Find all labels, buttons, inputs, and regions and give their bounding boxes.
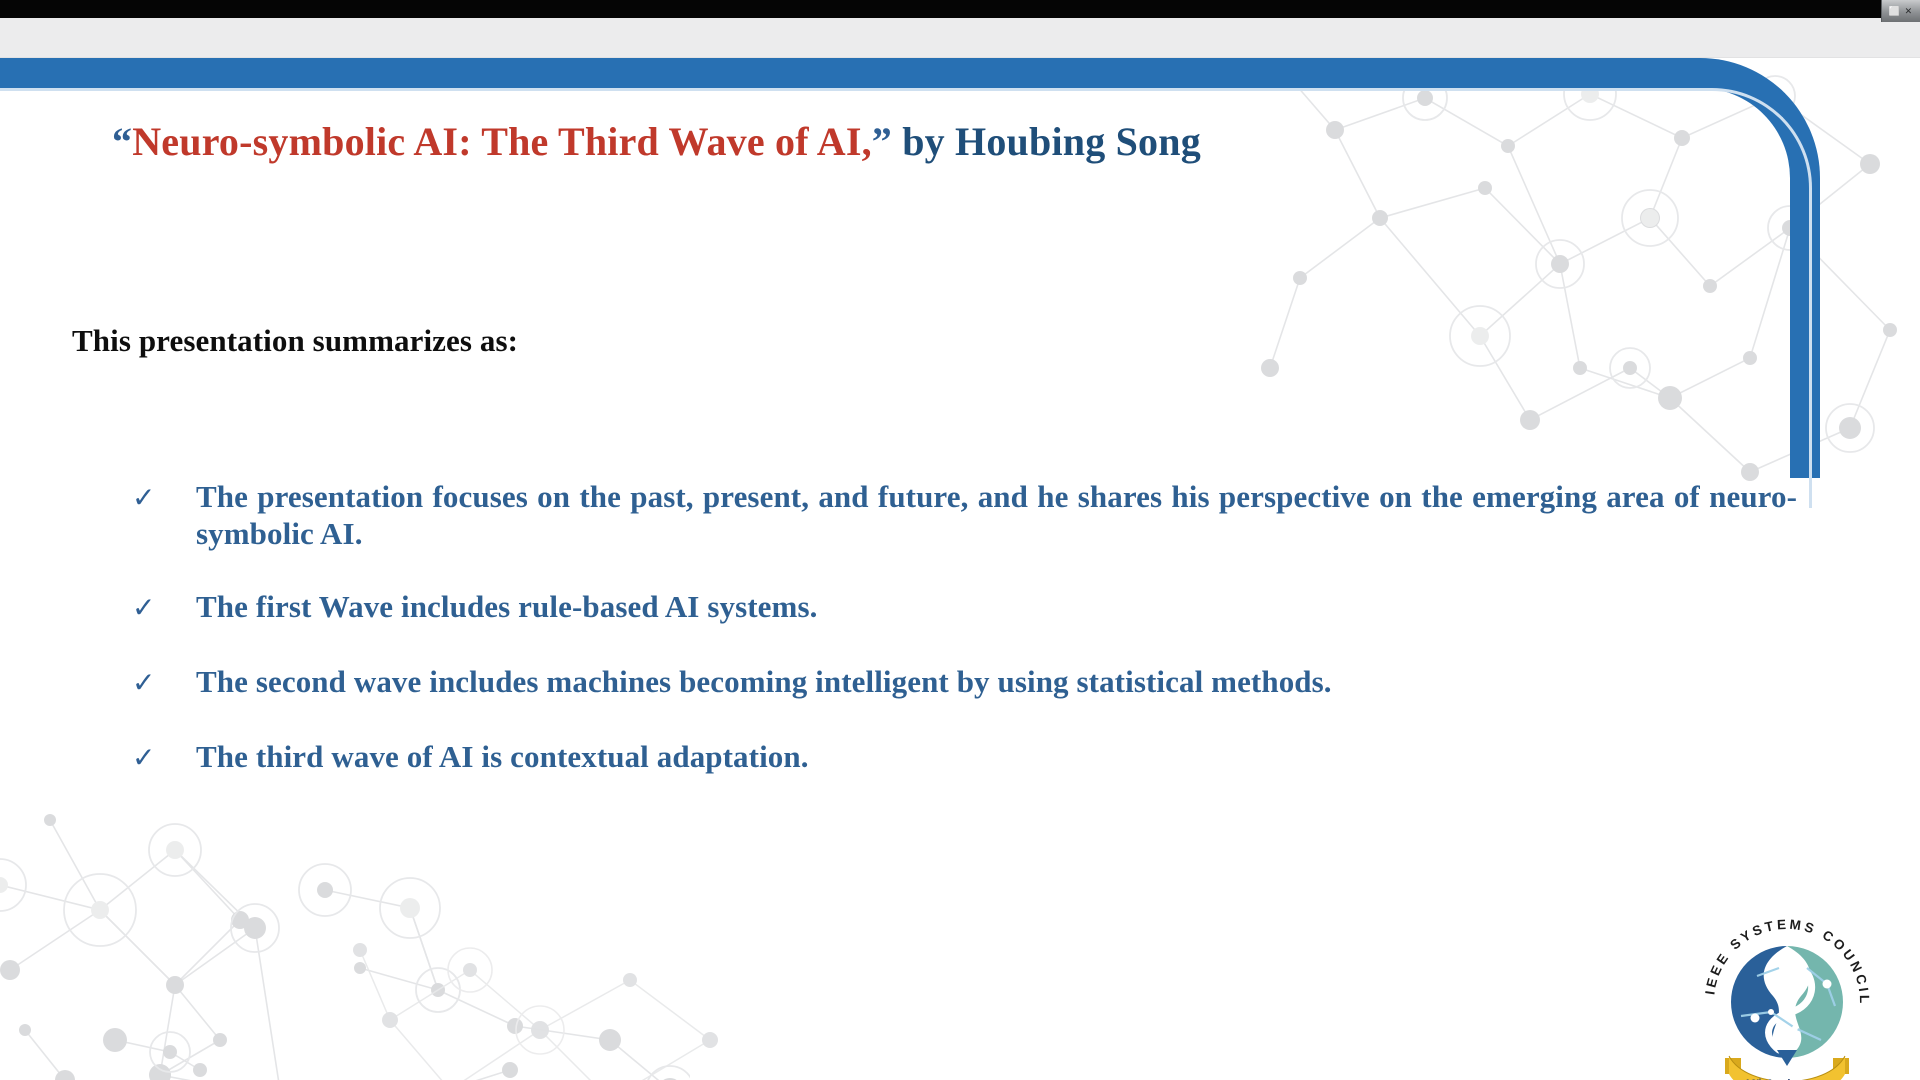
bullet-text-1: The first Wave includes rule-based AI sy… (196, 588, 1797, 625)
list-item: ✓ The third wave of AI is contextual ada… (132, 738, 1797, 777)
title-close-quote: ” (872, 119, 892, 164)
viewer-gray-band (0, 18, 1920, 58)
window-top-bar (0, 0, 1920, 18)
checkmark-icon: ✓ (132, 738, 196, 777)
title-author: by Houbing Song (892, 119, 1201, 164)
bullet-text-0: The presentation focuses on the past, pr… (196, 478, 1797, 552)
checkmark-icon: ✓ (132, 663, 196, 702)
lead-in-text: This presentation summarizes as: (72, 323, 518, 359)
window-close-control[interactable]: ⬜ ✕ (1881, 0, 1920, 22)
network-pattern-bottommid (330, 930, 750, 1080)
page-title: “Neuro-symbolic AI: The Third Wave of AI… (112, 118, 1201, 165)
title-comma: , (862, 119, 872, 164)
list-item: ✓ The second wave includes machines beco… (132, 663, 1797, 702)
ieee-systems-council-logo: IEEE SYSTEMS COUNCIL (1692, 894, 1882, 1080)
summary-bullet-list: ✓ The presentation focuses on the past, … (132, 478, 1797, 813)
title-open-quote: “ (112, 119, 132, 164)
list-item: ✓ The presentation focuses on the past, … (132, 478, 1797, 552)
anniversary-ribbon: 10th Anniversary (1725, 1050, 1849, 1080)
title-red-text: Neuro-symbolic AI: The Third Wave of AI (132, 119, 861, 164)
network-pattern-bottomleft (0, 790, 690, 1080)
list-item: ✓ The first Wave includes rule-based AI … (132, 588, 1797, 627)
presentation-slide: “Neuro-symbolic AI: The Third Wave of AI… (0, 58, 1920, 1080)
network-pattern-topright (1230, 68, 1920, 488)
checkmark-icon: ✓ (132, 478, 196, 517)
checkmark-icon: ✓ (132, 588, 196, 627)
bullet-text-2: The second wave includes machines becomi… (196, 663, 1797, 700)
bullet-text-3: The third wave of AI is contextual adapt… (196, 738, 1797, 775)
